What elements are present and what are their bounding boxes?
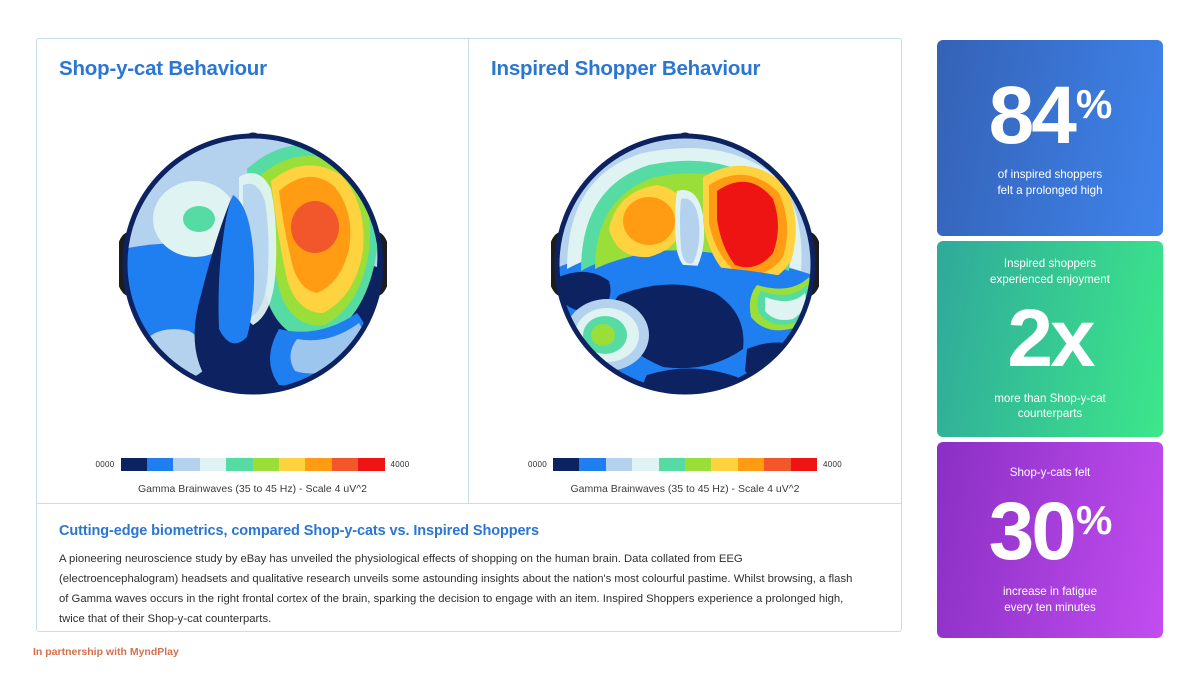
panel-shop-y-cat: Shop-y-cat Behaviour (37, 39, 469, 503)
stat-caption-enjoyment: more than Shop-y-cat counterparts (994, 391, 1105, 422)
eeg-topomap-inspired-shopper (551, 99, 819, 399)
colorbar-max-label-left: 4000 (391, 460, 410, 469)
caption-heading: Cutting-edge biometrics, compared Shop-y… (59, 523, 879, 539)
caption-section: Cutting-edge biometrics, compared Shop-y… (37, 503, 901, 631)
colorbar-gradient-left (121, 458, 385, 471)
stat-top-caption-enjoyment: Inspired shoppers experienced enjoyment (990, 256, 1110, 287)
stat-caption-fatigue: increase in fatigue every ten minutes (1003, 584, 1097, 615)
stat-card-prolonged-high: 84 % of inspired shoppers felt a prolong… (937, 40, 1163, 236)
colorbar-max-label-right: 4000 (823, 460, 842, 469)
stat-suffix-percent-84: % (1076, 84, 1111, 125)
colorbar-right: 0000 4000 Gamma Brainwaves (35 to 45 Hz)… (469, 458, 901, 495)
colorbar-caption-left: Gamma Brainwaves (35 to 45 Hz) - Scale 4… (37, 483, 468, 495)
stat-top-caption-fatigue: Shop-y-cats felt (1010, 465, 1091, 481)
stat-card-enjoyment: Inspired shoppers experienced enjoyment … (937, 241, 1163, 437)
panel-title-inspired-shopper: Inspired Shopper Behaviour (491, 57, 760, 81)
main-content-card: Shop-y-cat Behaviour (36, 38, 902, 632)
topomap-wrapper-left (37, 99, 468, 419)
panel-inspired-shopper: Inspired Shopper Behaviour (469, 39, 901, 503)
stat-card-fatigue: Shop-y-cats felt 30 % increase in fatigu… (937, 442, 1163, 638)
partnership-footer: In partnership with MyndPlay (33, 646, 179, 658)
panel-title-shop-y-cat: Shop-y-cat Behaviour (59, 57, 267, 81)
stat-value-fatigue: 30 % (989, 494, 1112, 569)
topomap-panels: Shop-y-cat Behaviour (37, 39, 901, 503)
stat-cards: 84 % of inspired shoppers felt a prolong… (937, 40, 1163, 638)
colorbar-left: 0000 4000 Gamma Brainwaves (35 to 45 Hz)… (37, 458, 468, 495)
eeg-topomap-shop-y-cat (119, 99, 387, 399)
stat-value-enjoyment: 2 x (1007, 301, 1092, 376)
infographic-root: Shop-y-cat Behaviour (0, 0, 1200, 675)
stat-number-84: 84 (989, 78, 1074, 153)
colorbar-min-label-left: 0000 (96, 460, 115, 469)
colorbar-caption-right: Gamma Brainwaves (35 to 45 Hz) - Scale 4… (469, 483, 901, 495)
stat-number-30: 30 (989, 494, 1074, 569)
stat-value-prolonged-high: 84 % (989, 78, 1112, 153)
colorbar-gradient-right (553, 458, 817, 471)
caption-body: A pioneering neuroscience study by eBay … (59, 549, 859, 629)
stat-number-2: 2 (1007, 301, 1050, 376)
colorbar-min-label-right: 0000 (528, 460, 547, 469)
stat-suffix-percent-30: % (1076, 500, 1111, 541)
stat-suffix-x-2: x (1050, 301, 1093, 376)
stat-caption-prolonged-high: of inspired shoppers felt a prolonged hi… (997, 167, 1102, 198)
topomap-wrapper-right (469, 99, 901, 419)
